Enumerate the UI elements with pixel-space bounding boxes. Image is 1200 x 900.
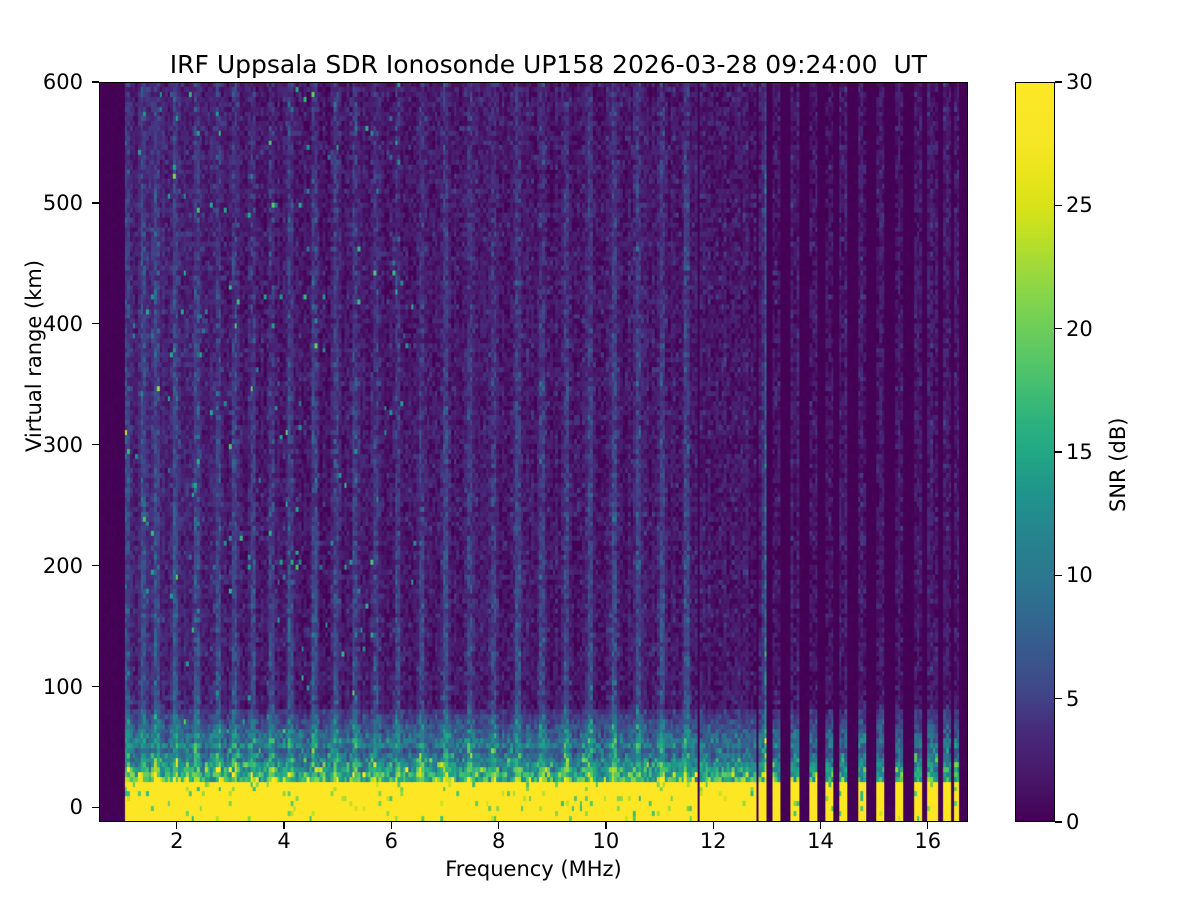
colorbar-tick-label: 10 — [1066, 563, 1093, 587]
colorbar-tick-mark — [1055, 575, 1062, 576]
colorbar-tick-label: 0 — [1066, 810, 1079, 834]
x-tick-mark — [498, 822, 499, 829]
y-tick-mark — [92, 202, 99, 203]
y-tick-label: 100 — [43, 675, 83, 699]
ionogram-figure: IRF Uppsala SDR Ionosonde UP158 2026-03-… — [0, 0, 1200, 900]
x-tick-label: 16 — [914, 829, 941, 853]
colorbar-tick-label: 15 — [1066, 440, 1093, 464]
y-tick-mark — [92, 323, 99, 324]
y-tick-mark — [92, 444, 99, 445]
colorbar-label: SNR (dB) — [1106, 418, 1130, 512]
y-tick-label: 600 — [43, 70, 83, 94]
y-tick-label: 0 — [70, 795, 83, 819]
x-tick-label: 2 — [170, 829, 183, 853]
colorbar-tick-mark — [1055, 81, 1062, 82]
x-tick-mark — [283, 822, 284, 829]
x-tick-label: 14 — [807, 829, 834, 853]
y-tick-mark — [92, 686, 99, 687]
colorbar-tick-mark — [1055, 328, 1062, 329]
y-tick-label: 300 — [43, 433, 83, 457]
x-tick-mark — [927, 822, 928, 829]
x-tick-mark — [391, 822, 392, 829]
colorbar-tick-label: 25 — [1066, 193, 1093, 217]
y-tick-label: 400 — [43, 312, 83, 336]
y-tick-mark — [92, 807, 99, 808]
y-tick-mark — [92, 81, 99, 82]
x-tick-label: 8 — [492, 829, 505, 853]
colorbar-tick-label: 30 — [1066, 70, 1093, 94]
colorbar-tick-mark — [1055, 205, 1062, 206]
y-tick-mark — [92, 565, 99, 566]
ionogram-heatmap-canvas — [100, 83, 967, 821]
colorbar-tick-mark — [1055, 451, 1062, 452]
colorbar-tick-mark — [1055, 698, 1062, 699]
colorbar-tick-label: 20 — [1066, 317, 1093, 341]
colorbar[interactable] — [1015, 82, 1055, 822]
x-tick-label: 10 — [593, 829, 620, 853]
x-tick-mark — [820, 822, 821, 829]
colorbar-tick-mark — [1055, 821, 1062, 822]
colorbar-tick-label: 5 — [1066, 687, 1079, 711]
x-tick-mark — [176, 822, 177, 829]
x-tick-label: 4 — [277, 829, 290, 853]
title-line-1: IRF Uppsala SDR Ionosonde UP158 2026-03-… — [170, 50, 927, 79]
x-tick-label: 12 — [700, 829, 727, 853]
x-tick-mark — [713, 822, 714, 829]
y-axis-label: Virtual range (km) — [22, 260, 46, 452]
x-tick-mark — [605, 822, 606, 829]
y-tick-label: 500 — [43, 191, 83, 215]
x-axis-label: Frequency (MHz) — [99, 857, 968, 881]
ionogram-plot-area[interactable] — [99, 82, 968, 822]
y-tick-label: 200 — [43, 554, 83, 578]
x-tick-label: 6 — [385, 829, 398, 853]
